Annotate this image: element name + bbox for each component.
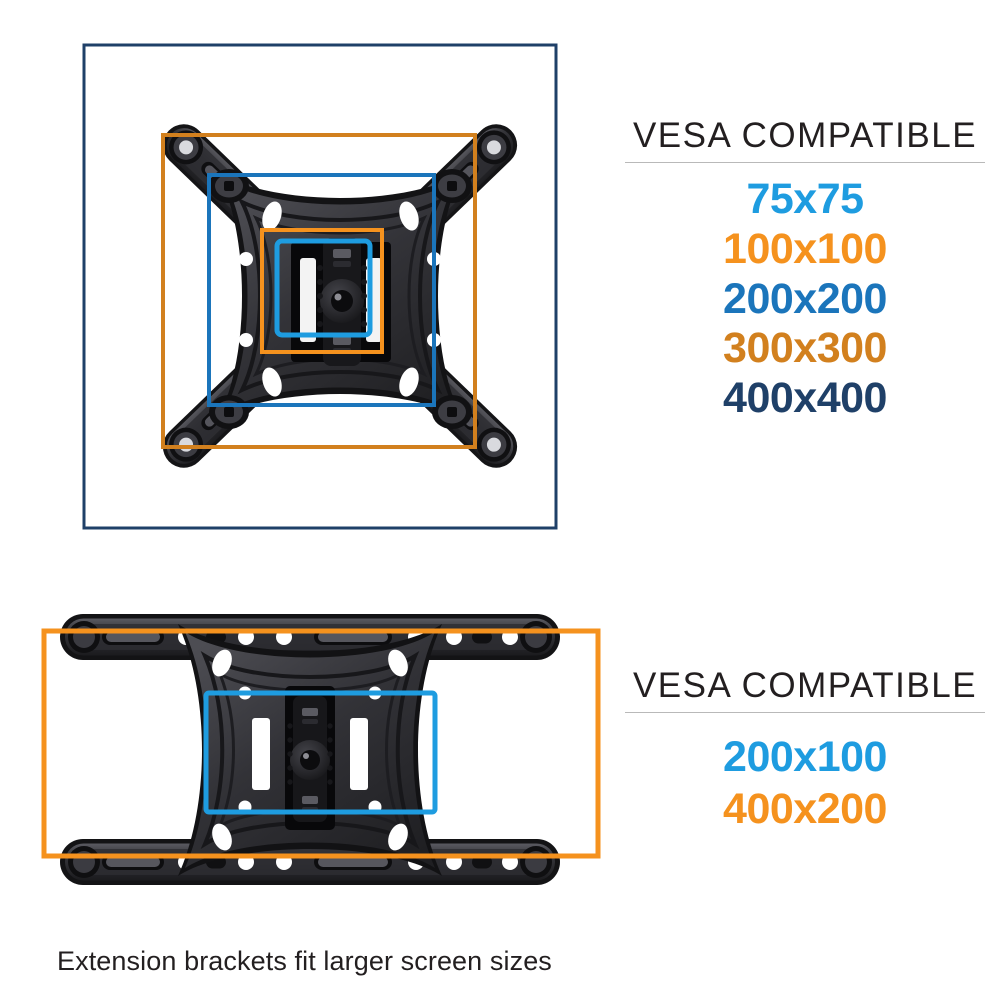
pivot-hub (317, 238, 367, 366)
vesa-divider-bottom (625, 712, 985, 713)
vesa-divider-top (625, 162, 985, 163)
vesa-block-top: VESA COMPATIBLE 75x75 100x100 200x200 30… (625, 118, 985, 424)
top-product-illustration (20, 10, 620, 560)
extension-caption: Extension brackets fit larger screen siz… (57, 946, 552, 977)
pivot-hub (287, 696, 332, 822)
mount-center-plate (178, 624, 442, 876)
infographic-page: VESA COMPATIBLE 75x75 100x100 200x200 30… (0, 0, 1000, 1000)
vesa-pattern-300x300: 300x300 (625, 324, 985, 374)
vesa-pattern-200x200: 200x200 (625, 275, 985, 325)
vesa-pattern-list-bottom: 200x100 400x200 (625, 731, 985, 836)
vesa-heading-top: VESA COMPATIBLE (625, 118, 985, 155)
x-arm-mount-svg (20, 10, 620, 560)
vesa-pattern-75x75: 75x75 (625, 175, 985, 225)
vesa-pattern-200x100: 200x100 (625, 731, 985, 783)
extension-arm-mount-svg (0, 590, 620, 910)
vesa-pattern-list-top: 75x75 100x100 200x200 300x300 400x400 (625, 175, 985, 424)
vesa-pattern-100x100: 100x100 (625, 225, 985, 275)
bottom-product-illustration (0, 590, 620, 910)
vesa-heading-bottom: VESA COMPATIBLE (625, 668, 985, 705)
vesa-pattern-400x200: 400x200 (625, 783, 985, 835)
vesa-pattern-400x400: 400x400 (625, 374, 985, 424)
vesa-block-bottom: VESA COMPATIBLE 200x100 400x200 (625, 668, 985, 836)
